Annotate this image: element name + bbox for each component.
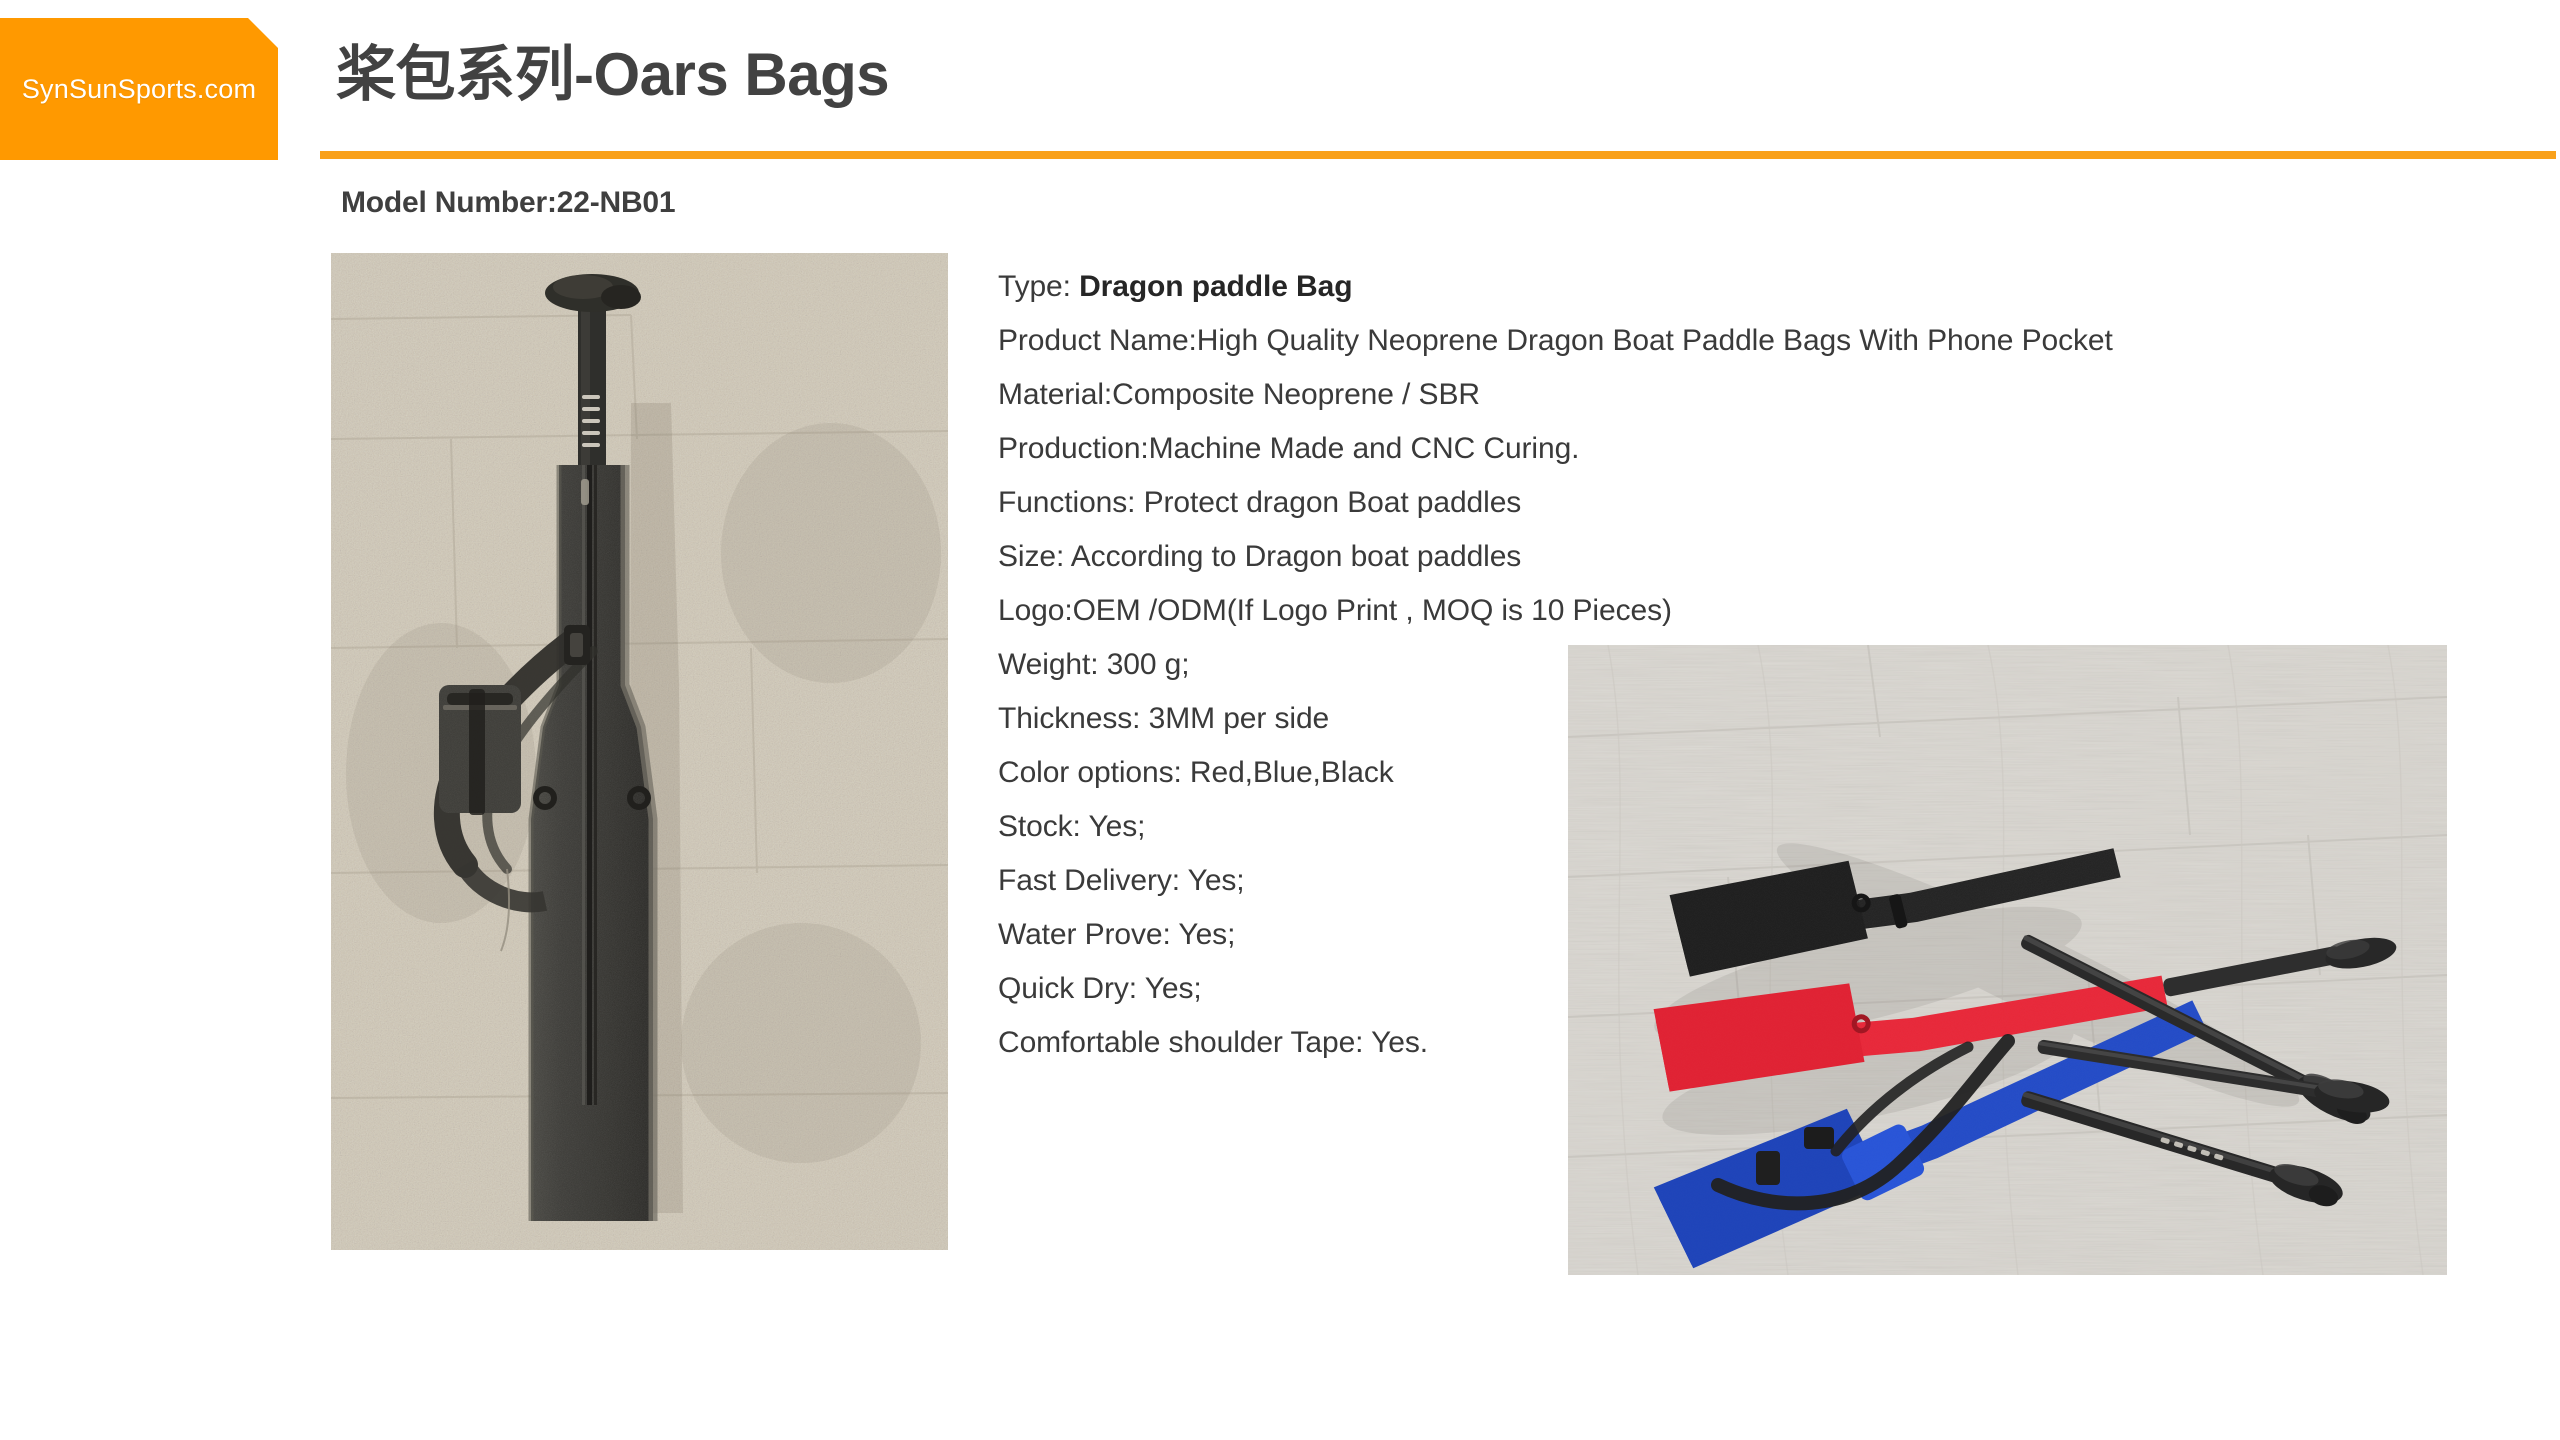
title-divider-rule: [320, 151, 2556, 159]
spec-type-value: Dragon paddle Bag: [1079, 270, 1352, 303]
spec-line-product-name: Product Name:High Quality Neoprene Drago…: [998, 314, 2458, 368]
spec-line-size: Size: According to Dragon boat paddles: [998, 530, 2458, 584]
spec-line-logo: Logo:OEM /ODM(If Logo Print , MOQ is 10 …: [998, 584, 2458, 638]
slide-root: SynSunSports.com 桨包系列-Oars Bags Model Nu…: [0, 0, 2560, 1440]
product-photo-right: [1568, 645, 2447, 1275]
brand-badge[interactable]: SynSunSports.com: [0, 18, 278, 160]
spec-line-material: Material:Composite Neoprene / SBR: [998, 368, 2458, 422]
spec-line-production: Production:Machine Made and CNC Curing.: [998, 422, 2458, 476]
spec-line-functions: Functions: Protect dragon Boat paddles: [998, 476, 2458, 530]
page-title: 桨包系列-Oars Bags: [336, 43, 889, 106]
product-photo-right-image: [1568, 645, 2447, 1275]
brand-badge-label: SynSunSports.com: [22, 74, 256, 105]
product-photo-left: [331, 253, 948, 1250]
model-number-label: Model Number:22-NB01: [341, 186, 675, 220]
product-photo-left-image: [331, 253, 948, 1250]
spec-line-type: Type: Dragon paddle Bag: [998, 260, 2458, 314]
spec-type-label: Type:: [998, 270, 1079, 303]
